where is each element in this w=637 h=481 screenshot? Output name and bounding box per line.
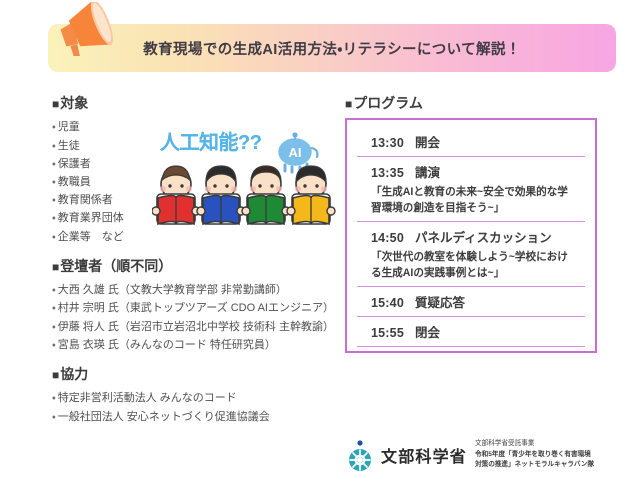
bullet-dot: ・ (52, 302, 56, 314)
bullet-dot: ・ (52, 411, 56, 423)
program-heading: ■プログラム (345, 96, 605, 111)
list-item: ・村井 宗明 氏（東武トップツアーズ CDO AIエンジニア） (52, 299, 342, 317)
mext-footer: 文部科学省 文部科学省受託事業 令和5年度「青少年を取り巻く有害環境 対策の推進… (345, 432, 635, 478)
program-item-head: 15:55閉会 (371, 322, 573, 341)
footer-note-line-2: 令和5年度「青少年を取り巻く有害環境 (475, 450, 594, 460)
header-banner: 教育現場での生成AI活用方法・リテラシーについて解説！ (0, 0, 637, 88)
program-item: 15:40質疑応答 (357, 287, 585, 317)
bullet-dot: ・ (52, 158, 56, 170)
illustration-caption: 人工知能?? (160, 126, 261, 155)
target-item-label: 生徒 (58, 140, 80, 152)
bullet-dot: ・ (52, 194, 56, 206)
footer-note-line-3: 対策の推進」ネットモラルキャラバン隊 (475, 460, 594, 470)
child-figure-yellow (287, 166, 335, 224)
ministry-name: 文部科学省 (381, 443, 467, 467)
bullet-dot: ・ (52, 284, 56, 296)
program-title: 開会 (415, 136, 440, 150)
child-figure-green (242, 166, 290, 224)
program-item-head: 13:30開会 (371, 132, 573, 151)
cooperation-label: 特定非営利活動法人 みんなのコード (58, 392, 237, 404)
speakers-heading: ■登壇者（順不同） (52, 259, 342, 274)
speakers-list: ・大西 久雄 氏（文教大学教育学部 非常勤講師） ・村井 宗明 氏（東武トップツ… (52, 281, 342, 354)
program-item-head: 15:40質疑応答 (371, 292, 573, 311)
children-reading-illustration: AI (152, 118, 352, 248)
list-item: ・伊藤 将人 氏（岩沼市立岩沼北中学校 技術科 主幹教諭） (52, 318, 342, 336)
speaker-label: 宮島 衣瑛 氏（みんなのコード 特任研究員） (58, 339, 276, 351)
list-item: ・大西 久雄 氏（文教大学教育学部 非常勤講師） (52, 281, 342, 299)
bullet-dot: ・ (52, 231, 56, 243)
cooperation-heading: ■協力 (52, 367, 342, 382)
heading-square-mark: ■ (52, 260, 59, 274)
program-schedule-box: 13:30開会 13:35講演 「生成AIと教育の未来~安全で効果的な学習環境の… (345, 118, 597, 353)
bullet-dot: ・ (52, 321, 56, 333)
speaker-label: 大西 久雄 氏（文教大学教育学部 非常勤講師） (58, 284, 287, 296)
target-item-label: 教職員 (58, 176, 91, 188)
program-item: 15:55閉会 (357, 317, 585, 347)
program-time: 13:30 (371, 136, 404, 150)
banner-title-text: 教育現場での生成AI活用方法・リテラシーについて解説！ (48, 24, 616, 72)
list-item: ・宮島 衣瑛 氏（みんなのコード 特任研究員） (52, 336, 342, 354)
program-column: ■プログラム 13:30開会 13:35講演 「生成AIと教育の未来~安全で効果… (345, 96, 605, 353)
cooperation-heading-text: 協力 (60, 366, 88, 382)
footer-notes: 文部科学省受託事業 令和5年度「青少年を取り巻く有害環境 対策の推進」ネットモラ… (475, 439, 594, 470)
speakers-heading-text: 登壇者（順不同） (60, 258, 172, 274)
target-section: ■対象 ・児童 ・生徒 ・保護者 ・教職員 ・教育関係者 ・教育業界団体 ・企業… (52, 96, 342, 246)
program-title: 閉会 (415, 326, 440, 340)
program-item: 14:50パネルディスカッション 「次世代の教室を体験しよう~学校における生成A… (357, 222, 585, 287)
program-time: 15:40 (371, 296, 404, 310)
program-heading-text: プログラム (353, 95, 423, 111)
heading-square-mark: ■ (52, 368, 59, 382)
mext-sunburst-logo-icon (345, 437, 377, 473)
child-figure-blue (197, 166, 245, 224)
program-detail: 「次世代の教室を体験しよう~学校における生成AIの実践事例とは~」 (371, 249, 573, 281)
program-time: 14:50 (371, 231, 404, 245)
target-item-label: 保護者 (58, 158, 91, 170)
program-title: 質疑応答 (415, 296, 465, 310)
program-detail: 「生成AIと教育の未来~安全で効果的な学習環境の創造を目指そう~」 (371, 184, 573, 216)
program-item: 13:30開会 (357, 127, 585, 157)
program-title: パネルディスカッション (415, 231, 552, 245)
program-title: 講演 (415, 166, 440, 180)
child-figure-red (152, 166, 200, 224)
svg-text:AI: AI (289, 145, 302, 160)
cooperation-label: 一般社団法人 安心ネットづくり促進協議会 (58, 411, 270, 423)
heading-square-mark: ■ (345, 97, 352, 111)
cooperation-list: ・特定非営利活動法人 みんなのコード ・一般社団法人 安心ネットづくり促進協議会 (52, 389, 342, 425)
footer-note-line-1: 文部科学省受託事業 (475, 439, 594, 449)
list-item: ・特定非営利活動法人 みんなのコード (52, 389, 342, 407)
list-item: ・一般社団法人 安心ネットづくり促進協議会 (52, 408, 342, 426)
bullet-dot: ・ (52, 140, 56, 152)
target-item-label: 教育関係者 (58, 194, 113, 206)
heading-square-mark: ■ (52, 97, 59, 111)
program-item: 13:35講演 「生成AIと教育の未来~安全で効果的な学習環境の創造を目指そう~… (357, 157, 585, 222)
program-item-head: 13:35講演 (371, 162, 573, 181)
speaker-label: 伊藤 将人 氏（岩沼市立岩沼北中学校 技術科 主幹教諭） (58, 321, 334, 333)
target-item-label: 企業等 など (58, 231, 124, 243)
cooperation-section: ■協力 ・特定非営利活動法人 みんなのコード ・一般社団法人 安心ネットづくり促… (52, 367, 342, 426)
left-column: ■対象 ・児童 ・生徒 ・保護者 ・教職員 ・教育関係者 ・教育業界団体 ・企業… (52, 96, 342, 426)
target-item-label: 教育業界団体 (58, 212, 124, 224)
program-time: 13:35 (371, 166, 404, 180)
program-time: 15:55 (371, 326, 404, 340)
target-item-label: 児童 (58, 121, 80, 133)
bullet-dot: ・ (52, 121, 56, 133)
speakers-section: ■登壇者（順不同） ・大西 久雄 氏（文教大学教育学部 非常勤講師） ・村井 宗… (52, 259, 342, 354)
target-heading-text: 対象 (60, 95, 88, 111)
target-heading: ■対象 (52, 96, 342, 111)
program-item-head: 14:50パネルディスカッション (371, 227, 573, 246)
bullet-dot: ・ (52, 176, 56, 188)
bullet-dot: ・ (52, 392, 56, 404)
bullet-dot: ・ (52, 212, 56, 224)
bullet-dot: ・ (52, 339, 56, 351)
speaker-label: 村井 宗明 氏（東武トップツアーズ CDO AIエンジニア） (58, 302, 334, 314)
